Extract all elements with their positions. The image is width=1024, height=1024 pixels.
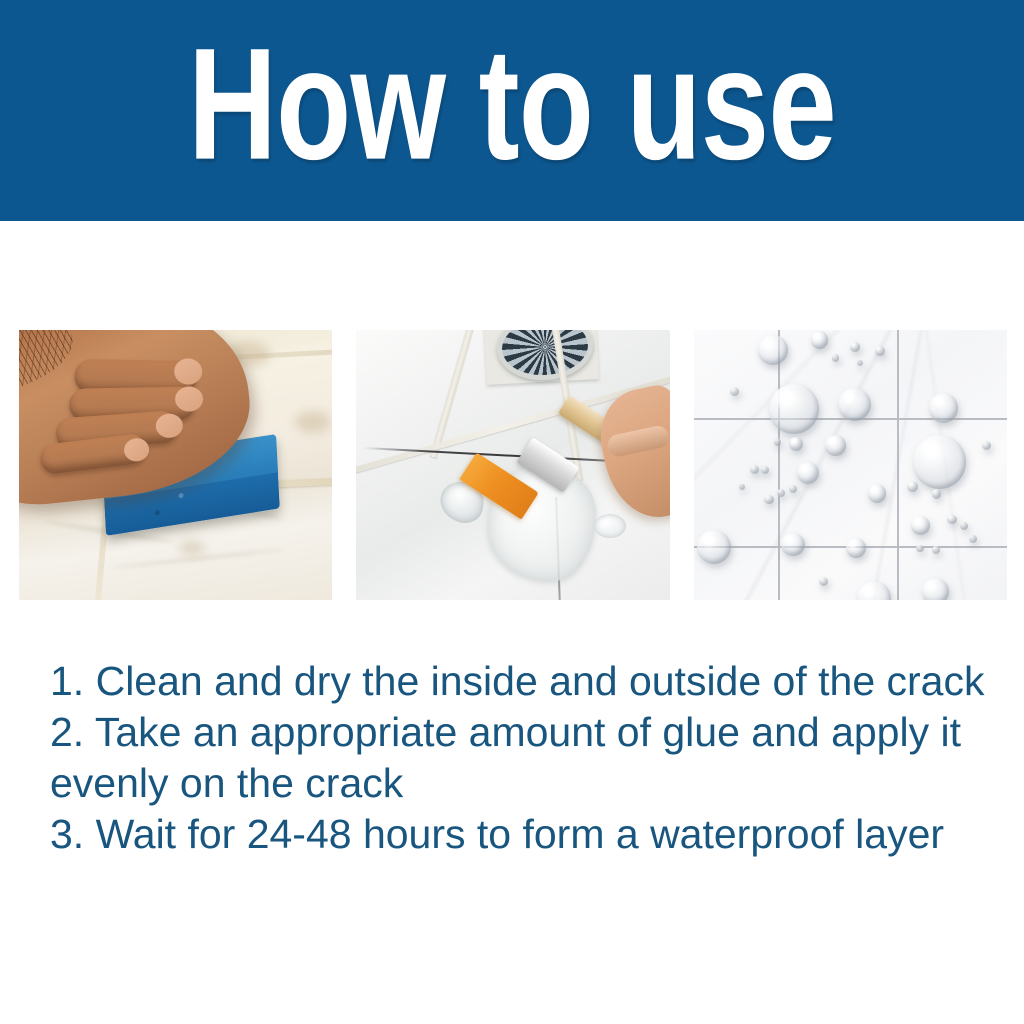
water-droplet <box>947 515 956 524</box>
water-droplet <box>857 360 863 366</box>
water-droplet <box>922 578 949 600</box>
water-droplet <box>781 533 804 556</box>
water-droplet <box>838 388 871 421</box>
water-droplet <box>913 435 966 488</box>
photo-strip <box>19 330 1007 600</box>
water-droplet <box>774 438 782 446</box>
water-droplet <box>769 384 819 434</box>
glue-droplet <box>594 514 626 538</box>
instructions-list: 1. Clean and dry the inside and outside … <box>50 656 1000 860</box>
water-droplet <box>960 522 968 530</box>
fingernail <box>155 413 184 439</box>
water-droplet <box>932 489 941 498</box>
water-droplet <box>764 495 773 504</box>
water-droplet <box>789 437 803 451</box>
photo-apply-glue <box>356 330 669 600</box>
page-title: How to use <box>92 24 932 183</box>
photo-waterproof-result <box>694 330 1007 600</box>
water-droplet <box>850 342 859 351</box>
water-droplet <box>777 489 785 497</box>
water-droplet <box>758 335 788 365</box>
water-droplet <box>875 346 884 355</box>
water-droplet <box>825 435 845 455</box>
water-droplet <box>811 331 828 348</box>
water-droplet <box>932 546 940 554</box>
water-droplet <box>846 538 866 558</box>
water-droplet <box>761 466 769 474</box>
water-droplet <box>907 481 918 492</box>
tile-stain <box>295 411 331 433</box>
instruction-step-3: 3. Wait for 24-48 hours to form a waterp… <box>50 809 1000 860</box>
photo-clean-tile <box>19 330 332 600</box>
header-banner: How to use <box>0 0 1024 221</box>
tile-stain <box>179 541 205 555</box>
water-droplet <box>730 387 739 396</box>
tile-grid-line <box>778 330 780 600</box>
instruction-step-2: 2. Take an appropriate amount of glue an… <box>50 707 1000 809</box>
water-droplet <box>868 484 887 503</box>
tile-grid-line <box>897 330 899 600</box>
instruction-step-1: 1. Clean and dry the inside and outside … <box>50 656 1000 707</box>
fingernail <box>175 387 203 412</box>
